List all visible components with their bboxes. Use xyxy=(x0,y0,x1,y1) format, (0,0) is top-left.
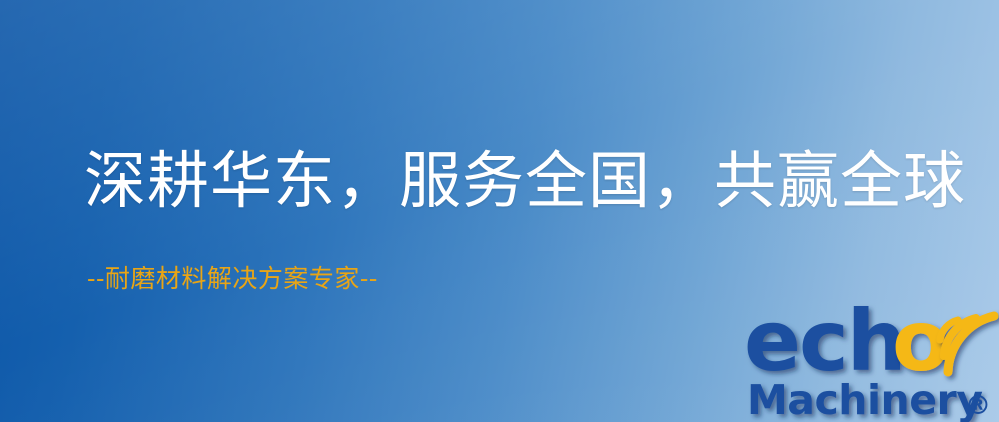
signal-wave-icon xyxy=(940,316,994,372)
page-title: 深耕华东，服务全国，共赢全球 xyxy=(84,148,966,213)
logo-tagline: Machinery xyxy=(747,376,982,422)
svg-text:Machinery: Machinery xyxy=(747,376,982,422)
page-subtitle: --耐磨材料解决方案专家-- xyxy=(87,266,378,291)
logo-graphic: ech o Machinery ® xyxy=(744,296,999,422)
company-logo[interactable]: ech o Machinery ® xyxy=(744,296,999,422)
svg-text:®: ® xyxy=(965,391,991,421)
registered-trademark-icon: ® xyxy=(965,391,991,421)
promo-banner: 深耕华东，服务全国，共赢全球 --耐磨材料解决方案专家-- ech o xyxy=(0,0,999,422)
